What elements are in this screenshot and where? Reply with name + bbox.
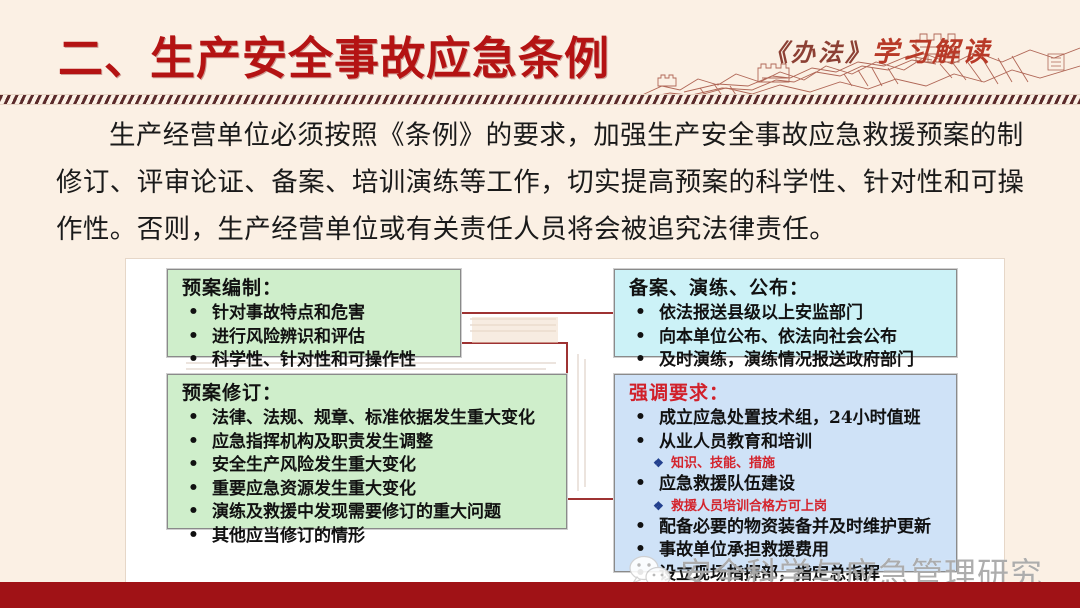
list-item: 进行风险辨识和评估	[180, 326, 452, 350]
diagram-box-qiangdiao-yaoqiu: 强调要求： 成立应急处置技术组，24小时值班 从业人员教育和培训 知识、技能、措…	[614, 374, 957, 572]
diagram-box-beian-yanlian-gongbu: 备案、演练、公布： 依法报送县级以上安监部门 向本单位公布、依法向社会公布 及时…	[614, 269, 957, 357]
list-item: 重要应急资源发生重大变化	[180, 478, 558, 502]
header-divider	[0, 94, 1080, 105]
diagram-image-panel: 预案编制： 针对事故特点和危害 进行风险辨识和评估 科学性、针对性和可操作性 预…	[125, 258, 1005, 583]
box-heading: 强调要求：	[629, 381, 948, 405]
box-heading: 预案编制：	[182, 276, 452, 300]
list-item: 应急指挥机构及职责发生调整	[180, 431, 558, 455]
list-item-sub: 救援人员培训合格方可上岗	[627, 497, 948, 516]
list-item: 及时演练，演练情况报送政府部门	[627, 349, 948, 373]
list-item: 安全生产风险发生重大变化	[180, 454, 558, 478]
header-subtitle-bracket: 《办法》	[764, 38, 872, 67]
diagram-box-yuan-xiuding: 预案修订： 法律、法规、规章、标准依据发生重大变化 应急指挥机构及职责发生调整 …	[167, 374, 567, 529]
list-item: 事故单位承担救援费用	[627, 539, 948, 563]
list-item-sub: 知识、技能、措施	[627, 454, 948, 473]
bottom-accent-bar	[0, 582, 1080, 608]
box-item-list: 法律、法规、规章、标准依据发生重大变化 应急指挥机构及职责发生调整 安全生产风险…	[180, 407, 558, 548]
list-item: 法律、法规、规章、标准依据发生重大变化	[180, 407, 558, 431]
page-title: 二、生产安全事故应急条例	[58, 22, 610, 87]
body-paragraph: 生产经营单位必须按照《条例》的要求，加强生产安全事故应急救援预案的制修订、评审论…	[56, 112, 1046, 253]
slide-root: 二、生产安全事故应急条例 《办法》学习解读 生产经营单位必须按照《条例》的要求，…	[0, 0, 1080, 608]
header-subtitle-main: 学习解读	[872, 37, 992, 68]
diagram-box-yuan-bianzhi: 预案编制： 针对事故特点和危害 进行风险辨识和评估 科学性、针对性和可操作性	[167, 269, 461, 357]
list-item: 从业人员教育和培训	[627, 431, 948, 455]
list-item: 成立应急处置技术组，24小时值班	[627, 407, 948, 431]
box-item-list: 依法报送县级以上安监部门 向本单位公布、依法向社会公布 及时演练，演练情况报送政…	[627, 302, 948, 373]
list-item: 向本单位公布、依法向社会公布	[627, 326, 948, 350]
box-item-list: 成立应急处置技术组，24小时值班 从业人员教育和培训 知识、技能、措施 应急救援…	[627, 407, 948, 605]
list-item: 配备必要的物资装备并及时维护更新	[627, 516, 948, 540]
list-item: 科学性、针对性和可操作性	[180, 349, 452, 373]
list-item: 依法报送县级以上安监部门	[627, 302, 948, 326]
list-item: 应急救援队伍建设	[627, 473, 948, 497]
box-heading: 备案、演练、公布：	[629, 276, 948, 300]
box-heading: 预案修订：	[182, 381, 558, 405]
list-item: 针对事故特点和危害	[180, 302, 452, 326]
header-subtitle: 《办法》学习解读	[764, 30, 992, 69]
slide-header: 二、生产安全事故应急条例 《办法》学习解读	[0, 0, 1080, 96]
box-item-list: 针对事故特点和危害 进行风险辨识和评估 科学性、针对性和可操作性	[180, 302, 452, 373]
list-item: 演练及救援中发现需要修订的重大问题	[180, 501, 558, 525]
list-item: 其他应当修订的情形	[180, 525, 558, 549]
